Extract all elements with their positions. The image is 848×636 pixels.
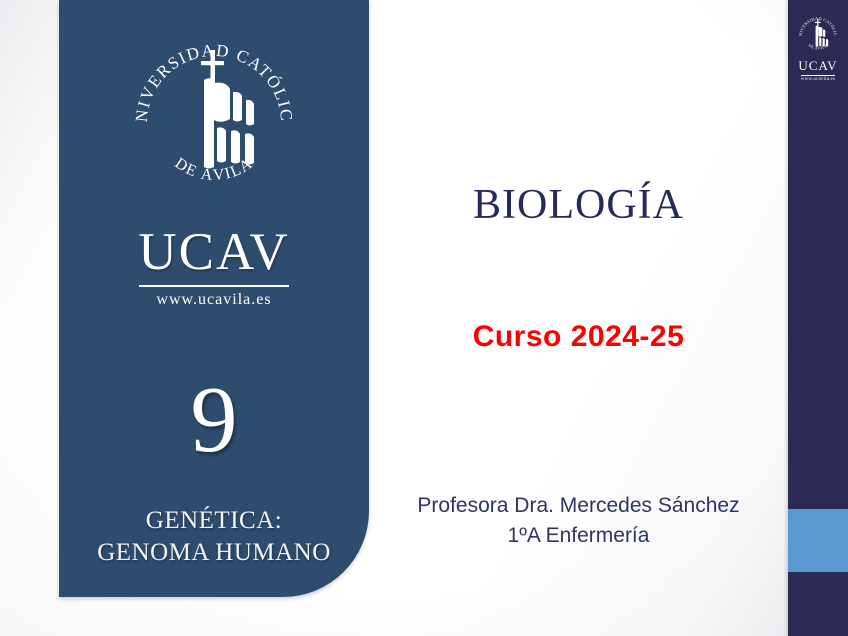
ucav-wordmark: UCAV www.ucavila.es <box>59 226 369 309</box>
course-title: BIOLOGÍA <box>369 184 788 226</box>
title-slide: UNIVERSIDAD CATÓLICA DE ÁVILA <box>0 0 848 636</box>
corner-divider <box>801 75 835 76</box>
corner-emblem-icon: UNIVERSIDAD CATÓLICA DE ÁVILA <box>797 14 839 56</box>
wordmark-divider <box>139 285 289 287</box>
right-side-bar: UNIVERSIDAD CATÓLICA DE ÁVILA UCAV <box>788 0 848 636</box>
instructor-block: Profesora Dra. Mercedes Sánchez 1ºA Enfe… <box>369 491 788 552</box>
corner-ucav-logo: UNIVERSIDAD CATÓLICA DE ÁVILA UCAV <box>793 14 843 82</box>
unit-title-line-1: GENÉTICA: <box>59 505 369 537</box>
ucav-emblem-icon: UNIVERSIDAD CATÓLICA DE ÁVILA <box>121 28 307 214</box>
academic-year: Curso 2024-25 <box>369 322 788 352</box>
corner-website-text: www.ucavila.es <box>793 77 843 82</box>
left-side-panel: UNIVERSIDAD CATÓLICA DE ÁVILA <box>59 0 369 597</box>
main-content: BIOLOGÍA Curso 2024-25 Profesora Dra. Me… <box>369 0 788 636</box>
unit-number: 9 <box>59 373 369 467</box>
unit-title-line-2: GENOMA HUMANO <box>59 537 369 569</box>
unit-title: GENÉTICA: GENOMA HUMANO <box>59 505 369 569</box>
ucav-website-text: www.ucavila.es <box>59 291 369 309</box>
instructor-name: Profesora Dra. Mercedes Sánchez <box>369 491 788 521</box>
accent-block <box>788 509 848 572</box>
student-group: 1ºA Enfermería <box>369 521 788 551</box>
ucav-wordmark-text: UCAV <box>59 226 369 279</box>
corner-ucav-text: UCAV <box>793 58 843 74</box>
